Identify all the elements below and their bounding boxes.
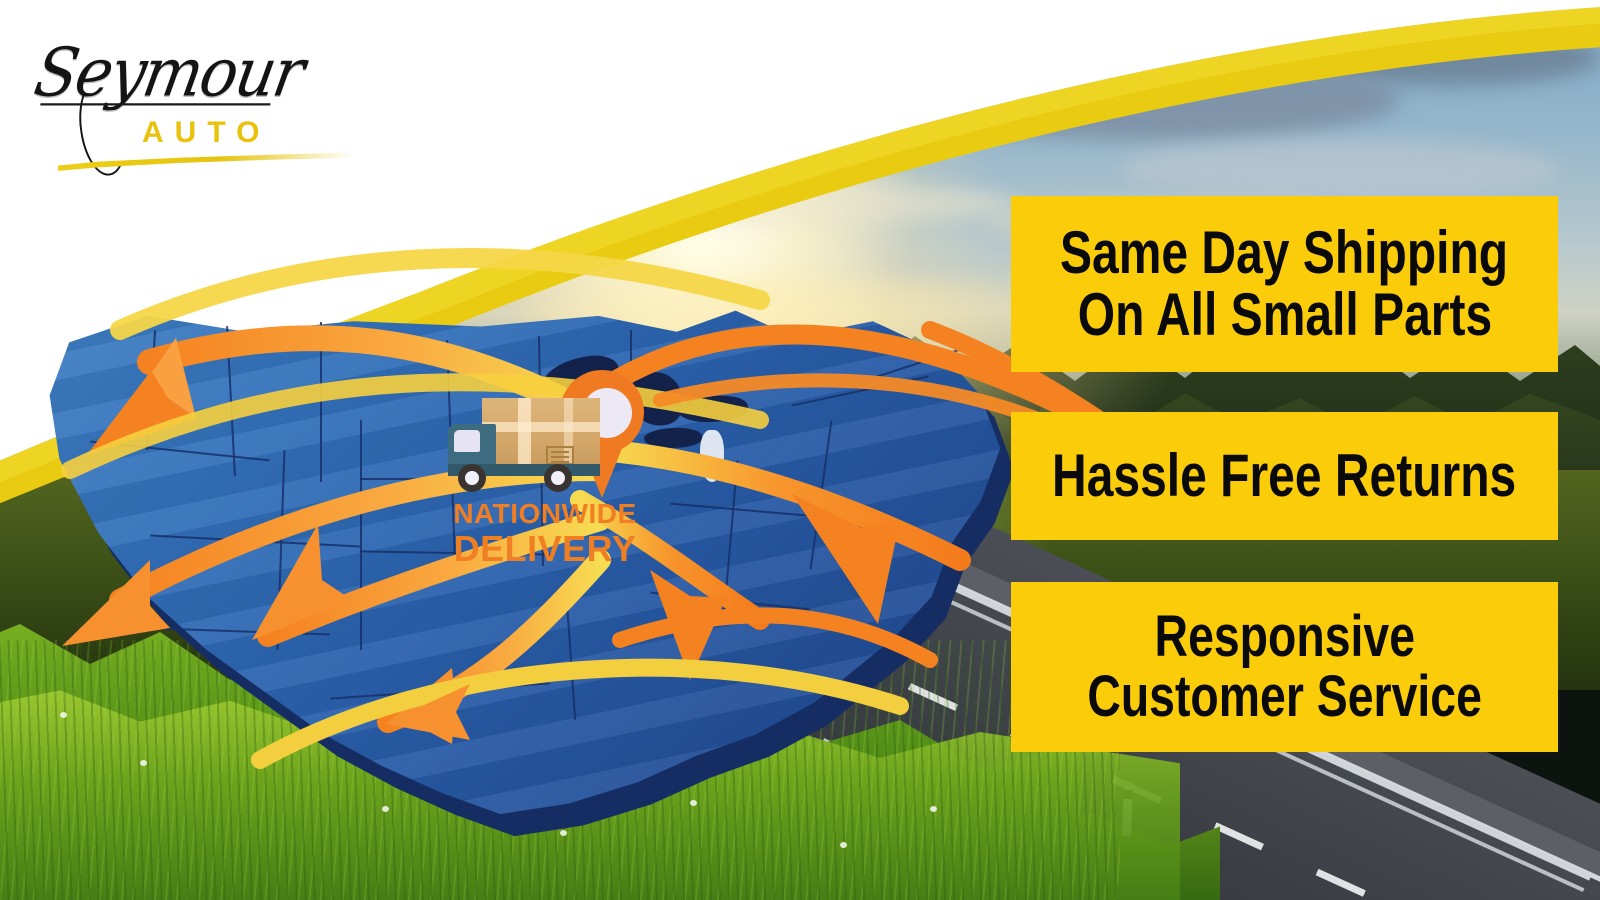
shipping-label-icon: [546, 446, 574, 465]
cloud: [40, 210, 400, 250]
feature-panel-same-day-shipping[interactable]: Same Day Shipping On All Small Parts: [1011, 196, 1558, 372]
brand-logo[interactable]: Seymour AUTO: [30, 20, 350, 170]
brand-name: Seymour: [29, 33, 309, 112]
feature-line: Responsive: [1154, 607, 1414, 667]
cloud: [1120, 140, 1560, 198]
feature-line: Same Day Shipping: [1060, 222, 1508, 284]
cargo-box-icon: [482, 398, 600, 472]
brand-sub-name: AUTO: [142, 116, 270, 150]
truck-wheel-icon: [458, 464, 486, 492]
delivery-label-line1: NATIONWIDE: [430, 500, 660, 528]
delivery-label: NATIONWIDE DELIVERY: [430, 500, 660, 569]
box-tape: [482, 422, 600, 432]
cloud: [420, 180, 1020, 226]
feature-line: Customer Service: [1087, 667, 1482, 727]
truck-window-icon: [454, 430, 480, 452]
truck-wheel-icon: [544, 464, 572, 492]
box-tape: [518, 398, 531, 472]
nationwide-delivery-badge: NATIONWIDE DELIVERY: [440, 360, 660, 590]
feature-line: Hassle Free Returns: [1052, 445, 1516, 507]
feature-panel-responsive-customer-service[interactable]: Responsive Customer Service: [1011, 582, 1558, 752]
feature-line: On All Small Parts: [1077, 284, 1491, 346]
feature-panel-hassle-free-returns[interactable]: Hassle Free Returns: [1011, 412, 1558, 540]
promo-banner: Seymour AUTO: [0, 0, 1600, 900]
delivery-label-line2: DELIVERY: [430, 528, 660, 569]
cloud: [880, 60, 1400, 140]
